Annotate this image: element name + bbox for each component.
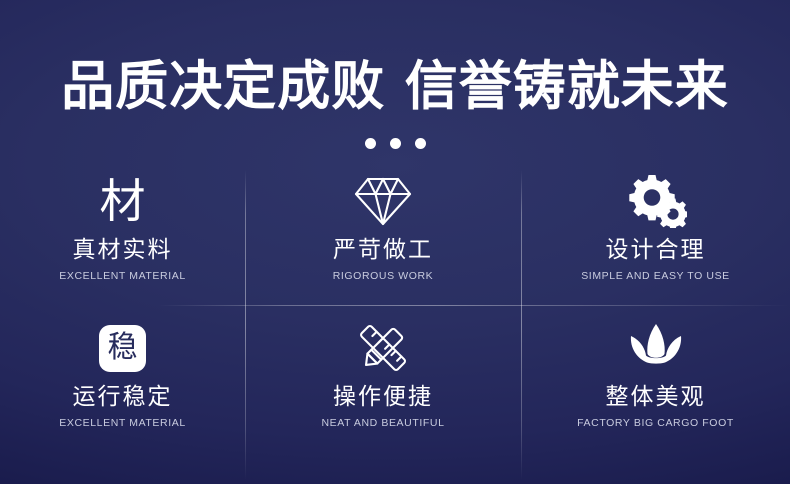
feature-label-cn: 设计合理 xyxy=(606,237,706,263)
feature-label-cn: 操作便捷 xyxy=(333,384,433,410)
grid-divider-vertical xyxy=(245,170,246,480)
feature-label-en: RIGOROUS WORK xyxy=(333,269,434,283)
feature-label-en: EXCELLENT MATERIAL xyxy=(59,416,186,430)
separator-dot xyxy=(390,138,401,149)
feature-label-en: SIMPLE AND EASY TO USE xyxy=(581,269,730,283)
icon-container: 稳 xyxy=(99,317,146,379)
separator-dot xyxy=(415,138,426,149)
page-title: 品质决定成败 信誉铸就未来 xyxy=(0,56,790,118)
features-grid: 材 真材实料 EXCELLENT MATERIAL 严苛做工 RIG xyxy=(0,170,790,480)
icon-container xyxy=(625,170,687,232)
feature-label-cn: 严苛做工 xyxy=(333,237,433,263)
feature-cell-easy-operation: 操作便捷 NEAT AND BEAUTIFUL xyxy=(245,305,521,480)
char-wen-boxed-icon: 稳 xyxy=(99,325,146,372)
feature-label-cn: 整体美观 xyxy=(606,384,706,410)
feature-cell-overall-beauty: 整体美观 FACTORY BIG CARGO FOOT xyxy=(521,305,790,480)
feature-cell-simple-easy: 设计合理 SIMPLE AND EASY TO USE xyxy=(521,170,790,305)
char-wen-glyph: 稳 xyxy=(108,332,138,364)
icon-container: 材 xyxy=(100,170,146,232)
pencil-ruler-icon xyxy=(355,320,411,376)
char-cai-icon: 材 xyxy=(100,176,146,226)
feature-cell-stable-operation: 稳 运行稳定 EXCELLENT MATERIAL xyxy=(0,305,245,480)
feature-label-cn: 运行稳定 xyxy=(73,384,173,410)
icon-container xyxy=(627,317,685,379)
promo-banner: 品质决定成败 信誉铸就未来 材 真材实料 EXCELLENT MATERIAL xyxy=(0,0,790,484)
gears-icon xyxy=(625,174,687,228)
feature-cell-rigorous-work: 严苛做工 RIGOROUS WORK xyxy=(245,170,521,305)
icon-container xyxy=(355,317,411,379)
feature-cell-excellent-material: 材 真材实料 EXCELLENT MATERIAL xyxy=(0,170,245,305)
feature-label-en: FACTORY BIG CARGO FOOT xyxy=(577,416,734,430)
feature-label-en: NEAT AND BEAUTIFUL xyxy=(321,416,444,430)
icon-container xyxy=(354,170,412,232)
grid-divider-vertical xyxy=(521,170,522,480)
diamond-icon xyxy=(354,175,412,227)
bottom-white-strip xyxy=(0,484,790,500)
separator-dot xyxy=(365,138,376,149)
dots-separator xyxy=(0,138,790,149)
feature-label-en: EXCELLENT MATERIAL xyxy=(59,269,186,283)
feature-label-cn: 真材实料 xyxy=(73,237,173,263)
title-block: 品质决定成败 信誉铸就未来 xyxy=(0,56,790,118)
lotus-icon xyxy=(627,323,685,373)
grid-divider-horizontal xyxy=(0,305,790,306)
